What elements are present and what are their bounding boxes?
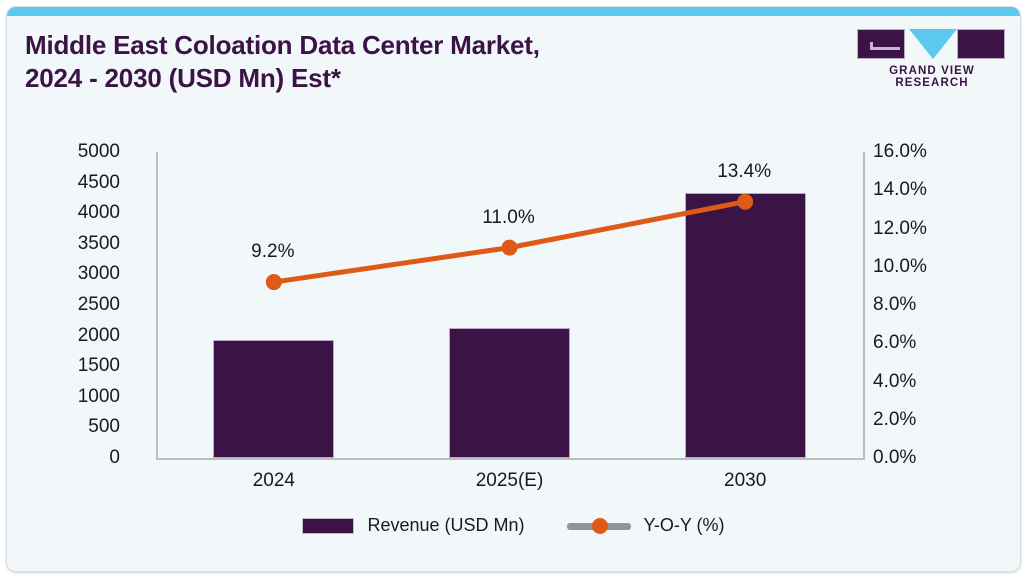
yoy-data-point[interactable]	[266, 274, 282, 290]
x-axis-tick-label: 2030	[724, 470, 766, 492]
y-axis-right-tick-label: 12.0%	[873, 218, 968, 240]
yoy-data-label: 11.0%	[482, 207, 534, 229]
chart-legend: Revenue (USD Mn) Y-O-Y (%)	[7, 515, 1020, 536]
y-axis-left-tick-label: 4500	[25, 172, 120, 194]
yoy-data-label: 13.4%	[717, 161, 771, 183]
y-axis-right-tick-label: 2.0%	[873, 409, 968, 431]
y-axis-left-tick-label: 4000	[25, 202, 120, 224]
legend-item-revenue[interactable]: Revenue (USD Mn)	[302, 515, 524, 536]
y-axis-left-tick-label: 1500	[25, 355, 120, 377]
y-axis-right-tick-label: 4.0%	[873, 371, 968, 393]
legend-bar-swatch-icon	[302, 518, 354, 534]
legend-line-swatch-icon	[567, 521, 631, 531]
x-axis-tick-label: 2024	[253, 470, 295, 492]
y-axis-left-line	[156, 152, 158, 459]
legend-label-revenue: Revenue (USD Mn)	[367, 515, 524, 536]
y-axis-left-tick-label: 5000	[25, 141, 120, 163]
y-axis-right-tick-label: 14.0%	[873, 179, 968, 201]
x-axis-tick-label: 2025(E)	[476, 470, 544, 492]
x-axis-line	[156, 458, 865, 460]
y-axis-left-tick-label: 2000	[25, 325, 120, 347]
y-axis-right-tick-label: 0.0%	[873, 447, 968, 469]
y-axis-right-tick-label: 6.0%	[873, 332, 968, 354]
y-axis-left-tick-label: 1000	[25, 386, 120, 408]
y-axis-right-tick-label: 10.0%	[873, 256, 968, 278]
y-axis-left-tick-label: 500	[25, 416, 120, 438]
bar-2025e[interactable]	[449, 328, 570, 458]
legend-label-yoy: Y-O-Y (%)	[644, 515, 725, 536]
y-axis-right-line	[863, 152, 865, 459]
legend-item-yoy[interactable]: Y-O-Y (%)	[567, 515, 725, 536]
y-axis-left-tick-label: 3000	[25, 263, 120, 285]
bar-2024[interactable]	[213, 340, 334, 458]
y-axis-right-tick-label: 16.0%	[873, 141, 968, 163]
y-axis-right-tick-label: 8.0%	[873, 294, 968, 316]
combo-chart: 5000450040003500300025002000150010005000…	[7, 7, 1020, 571]
yoy-data-label: 9.2%	[251, 241, 294, 263]
bar-2030[interactable]	[685, 193, 806, 458]
yoy-data-point[interactable]	[502, 240, 518, 256]
y-axis-left-tick-label: 3500	[25, 233, 120, 255]
y-axis-left-tick-label: 2500	[25, 294, 120, 316]
chart-card: Middle East Coloation Data Center Market…	[6, 6, 1021, 572]
y-axis-left-tick-label: 0	[25, 447, 120, 469]
